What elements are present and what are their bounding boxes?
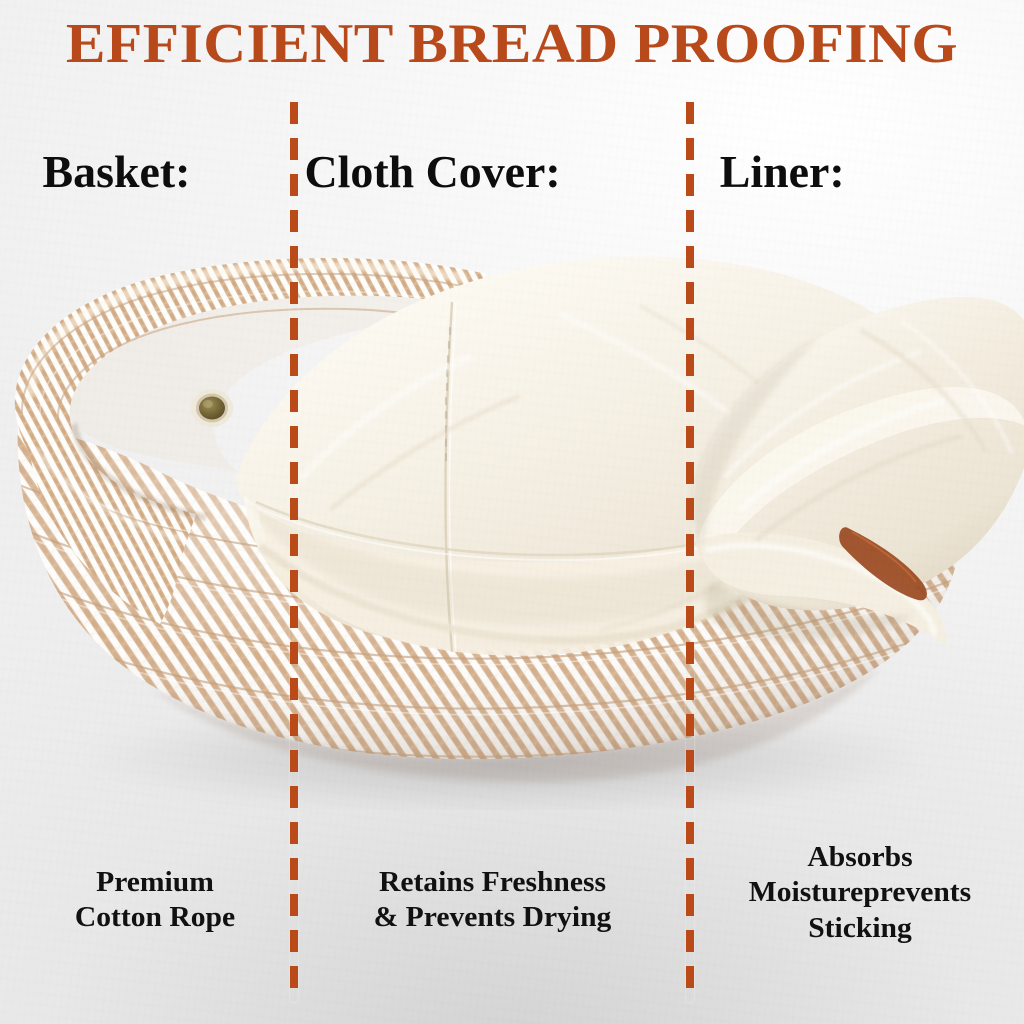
caption-cloth-line-2: & Prevents Drying [317, 900, 669, 935]
caption-liner-line-3: Sticking [697, 911, 1023, 946]
caption-liner: Absorbs Moistureprevents Sticking [697, 840, 1023, 946]
caption-basket-line-2: Cotton Rope [28, 900, 283, 935]
caption-liner-line-2: Moistureprevents [697, 875, 1023, 910]
section-label-liner: Liner: [720, 150, 845, 195]
brass-grommet [191, 389, 233, 427]
caption-basket: Premium Cotton Rope [28, 865, 283, 936]
page-title: EFFICIENT BREAD PROOFING [0, 16, 1024, 72]
product-photo [0, 210, 1024, 810]
section-label-cloth-cover: Cloth Cover: [304, 150, 560, 195]
infographic-canvas: EFFICIENT BREAD PROOFING Basket: Cloth C… [0, 0, 1024, 1024]
caption-cloth-line-1: Retains Freshness [317, 865, 669, 900]
caption-basket-line-1: Premium [28, 865, 283, 900]
section-label-basket: Basket: [43, 150, 191, 195]
caption-liner-line-1: Absorbs [697, 840, 1023, 875]
product-illustration [0, 210, 1024, 810]
section-divider-2 [686, 102, 694, 1002]
caption-cloth-cover: Retains Freshness & Prevents Drying [317, 865, 669, 936]
section-divider-1 [290, 102, 298, 1002]
